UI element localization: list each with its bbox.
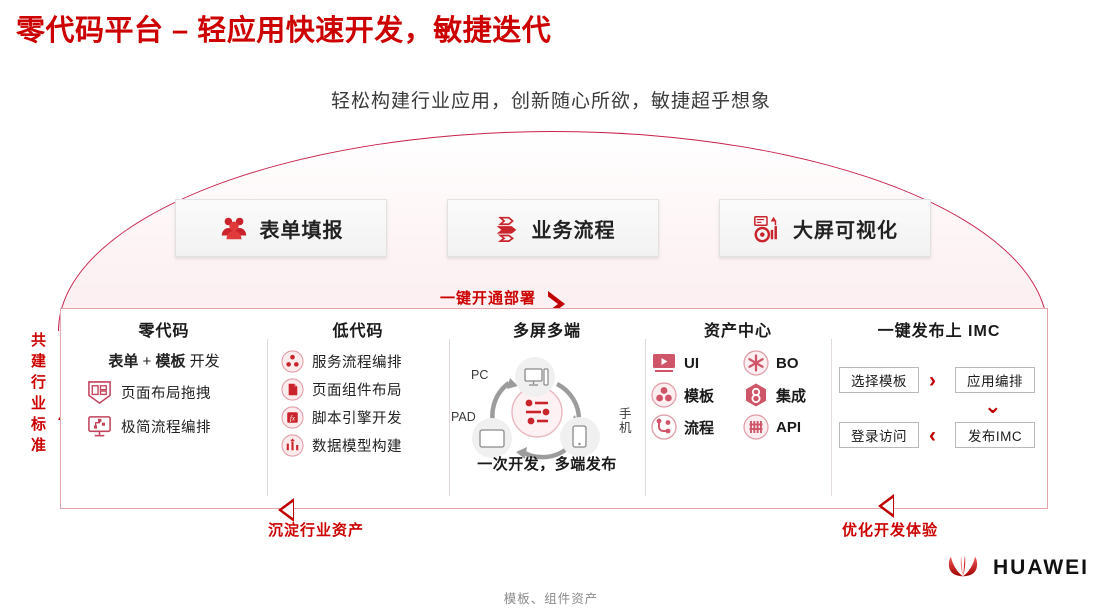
low-code-item-service-flow[interactable]: 服务流程编排 <box>267 350 449 373</box>
footnote: 模板、组件资产 <box>0 588 1102 607</box>
headline-plus: + <box>138 353 155 370</box>
low-code-label: 数据模型构建 <box>312 435 402 456</box>
integration-link-icon <box>743 382 769 408</box>
chevron-left-icon-experience <box>878 494 894 518</box>
data-model-icon <box>281 434 304 457</box>
process-arrows-icon <box>491 213 521 243</box>
flow-step-select-template[interactable]: 选择模板 <box>839 367 919 393</box>
low-code-label: 脚本引擎开发 <box>312 407 402 428</box>
column-multi-screen: 多屏多端 <box>449 309 645 508</box>
column-title: 低代码 <box>267 317 449 341</box>
asset-item-integration[interactable]: 集成 <box>743 382 837 408</box>
zero-code-headline: 表单 + 模板 开发 <box>61 350 267 371</box>
dashboard-chart-icon <box>752 213 782 243</box>
platform-panel: 零代码 表单 + 模板 开发 页面布局拖拽 <box>60 308 1048 509</box>
chip-form-filling[interactable]: 表单填报 <box>175 199 387 257</box>
feature-page-layout[interactable]: 页面布局拖拽 <box>61 380 267 405</box>
template-cubes-icon <box>651 382 677 408</box>
script-fx-icon: fx <box>281 406 304 429</box>
multi-screen-diagram: PC PAD 手机 一次开发，多端发布 <box>449 350 645 470</box>
page-subtitle: 轻松构建行业应用，创新随心所欲，敏捷超乎想象 <box>0 86 1102 113</box>
feature-simple-flow[interactable]: 极简流程编排 <box>61 414 267 439</box>
feature-label: 极简流程编排 <box>121 416 211 437</box>
asset-label: 流程 <box>684 417 714 438</box>
asset-label: API <box>776 419 801 436</box>
asset-item-api[interactable]: API <box>743 414 837 440</box>
chip-business-process[interactable]: 业务流程 <box>447 199 659 257</box>
api-grid-icon <box>743 414 769 440</box>
deploy-label: 一键开通部署 <box>440 287 536 308</box>
slide-canvas: 零代码平台 – 轻应用快速开发，敏捷迭代 轻松构建行业应用，创新随心所欲，敏捷超… <box>0 0 1102 610</box>
page-layout-icon <box>87 380 112 405</box>
page-component-icon <box>281 378 304 401</box>
low-code-label: 页面组件布局 <box>312 379 402 400</box>
flow-step-publish-imc[interactable]: 发布IMC <box>955 422 1035 448</box>
ui-screen-icon <box>651 350 677 376</box>
flow-step-app-orchestration[interactable]: 应用编排 <box>955 367 1035 393</box>
flow-arrow-down-icon: ⌄ <box>984 396 1002 417</box>
column-title: 零代码 <box>61 317 267 341</box>
flow-arrow-left-icon: ‹ <box>929 425 936 446</box>
asset-item-template[interactable]: 模板 <box>651 382 743 408</box>
bo-asterisk-icon <box>743 350 769 376</box>
huawei-wordmark: HUAWEI <box>993 556 1089 580</box>
service-flow-icon <box>281 350 304 373</box>
low-code-item-page-component[interactable]: 页面组件布局 <box>267 378 449 401</box>
flow-screen-icon <box>87 414 112 439</box>
feature-label: 页面布局拖拽 <box>121 382 211 403</box>
bottom-label-experience: 优化开发体验 <box>842 519 938 540</box>
asset-grid: UI <box>645 350 831 440</box>
people-form-icon <box>219 213 249 243</box>
asset-label: 模板 <box>684 385 714 406</box>
column-title: 资产中心 <box>645 317 831 341</box>
column-zero-code: 零代码 表单 + 模板 开发 页面布局拖拽 <box>61 309 267 508</box>
asset-label: BO <box>776 355 799 372</box>
bottom-label-assets: 沉淀行业资产 <box>268 519 364 540</box>
node-label-phone: 手机 <box>619 407 633 435</box>
low-code-item-script-engine[interactable]: fx 脚本引擎开发 <box>267 406 449 429</box>
column-title: 多屏多端 <box>449 317 645 341</box>
column-title: 一键发布上 IMC <box>831 317 1047 341</box>
flow-arrow-right-icon: › <box>929 370 936 391</box>
low-code-item-data-model[interactable]: 数据模型构建 <box>267 434 449 457</box>
flow-node-icon <box>651 414 677 440</box>
node-label-pc: PC <box>471 368 488 382</box>
column-publish-imc: 一键发布上 IMC 选择模板 应用编排 登录访问 发布IMC › ⌄ ‹ <box>831 309 1047 508</box>
node-label-pad: PAD <box>451 410 476 424</box>
huawei-logo-icon <box>944 551 982 584</box>
chip-label: 业务流程 <box>532 214 616 243</box>
chip-label: 表单填报 <box>260 214 344 243</box>
chip-big-screen-viz[interactable]: 大屏可视化 <box>719 199 931 257</box>
headline-part-c: 开发 <box>185 353 219 370</box>
asset-item-ui[interactable]: UI <box>651 350 743 376</box>
capability-chip-row: 表单填报 业务流程 <box>58 199 1048 257</box>
page-title: 零代码平台 – 轻应用快速开发，敏捷迭代 <box>16 7 551 49</box>
asset-label: UI <box>684 355 699 372</box>
flow-step-login-access[interactable]: 登录访问 <box>839 422 919 448</box>
svg-text:fx: fx <box>290 415 296 423</box>
deploy-band: 一键开通部署 <box>440 284 565 310</box>
headline-part-b: 模板 <box>155 353 185 370</box>
headline-part-a: 表单 <box>108 353 138 370</box>
column-asset-center: 资产中心 UI <box>645 309 831 508</box>
column-low-code: 低代码 服务流程编排 <box>267 309 449 508</box>
asset-item-flow[interactable]: 流程 <box>651 414 743 440</box>
asset-label: 集成 <box>776 385 806 406</box>
left-vertical-label: 共建行业标准 <box>28 330 50 456</box>
chip-label: 大屏可视化 <box>793 214 898 243</box>
asset-item-bo[interactable]: BO <box>743 350 837 376</box>
publish-flow-diagram: 选择模板 应用编排 登录访问 发布IMC › ⌄ ‹ <box>831 350 1047 470</box>
huawei-brand: HUAWEI <box>944 551 1089 584</box>
low-code-label: 服务流程编排 <box>312 351 402 372</box>
multi-screen-caption: 一次开发，多端发布 <box>449 453 645 474</box>
